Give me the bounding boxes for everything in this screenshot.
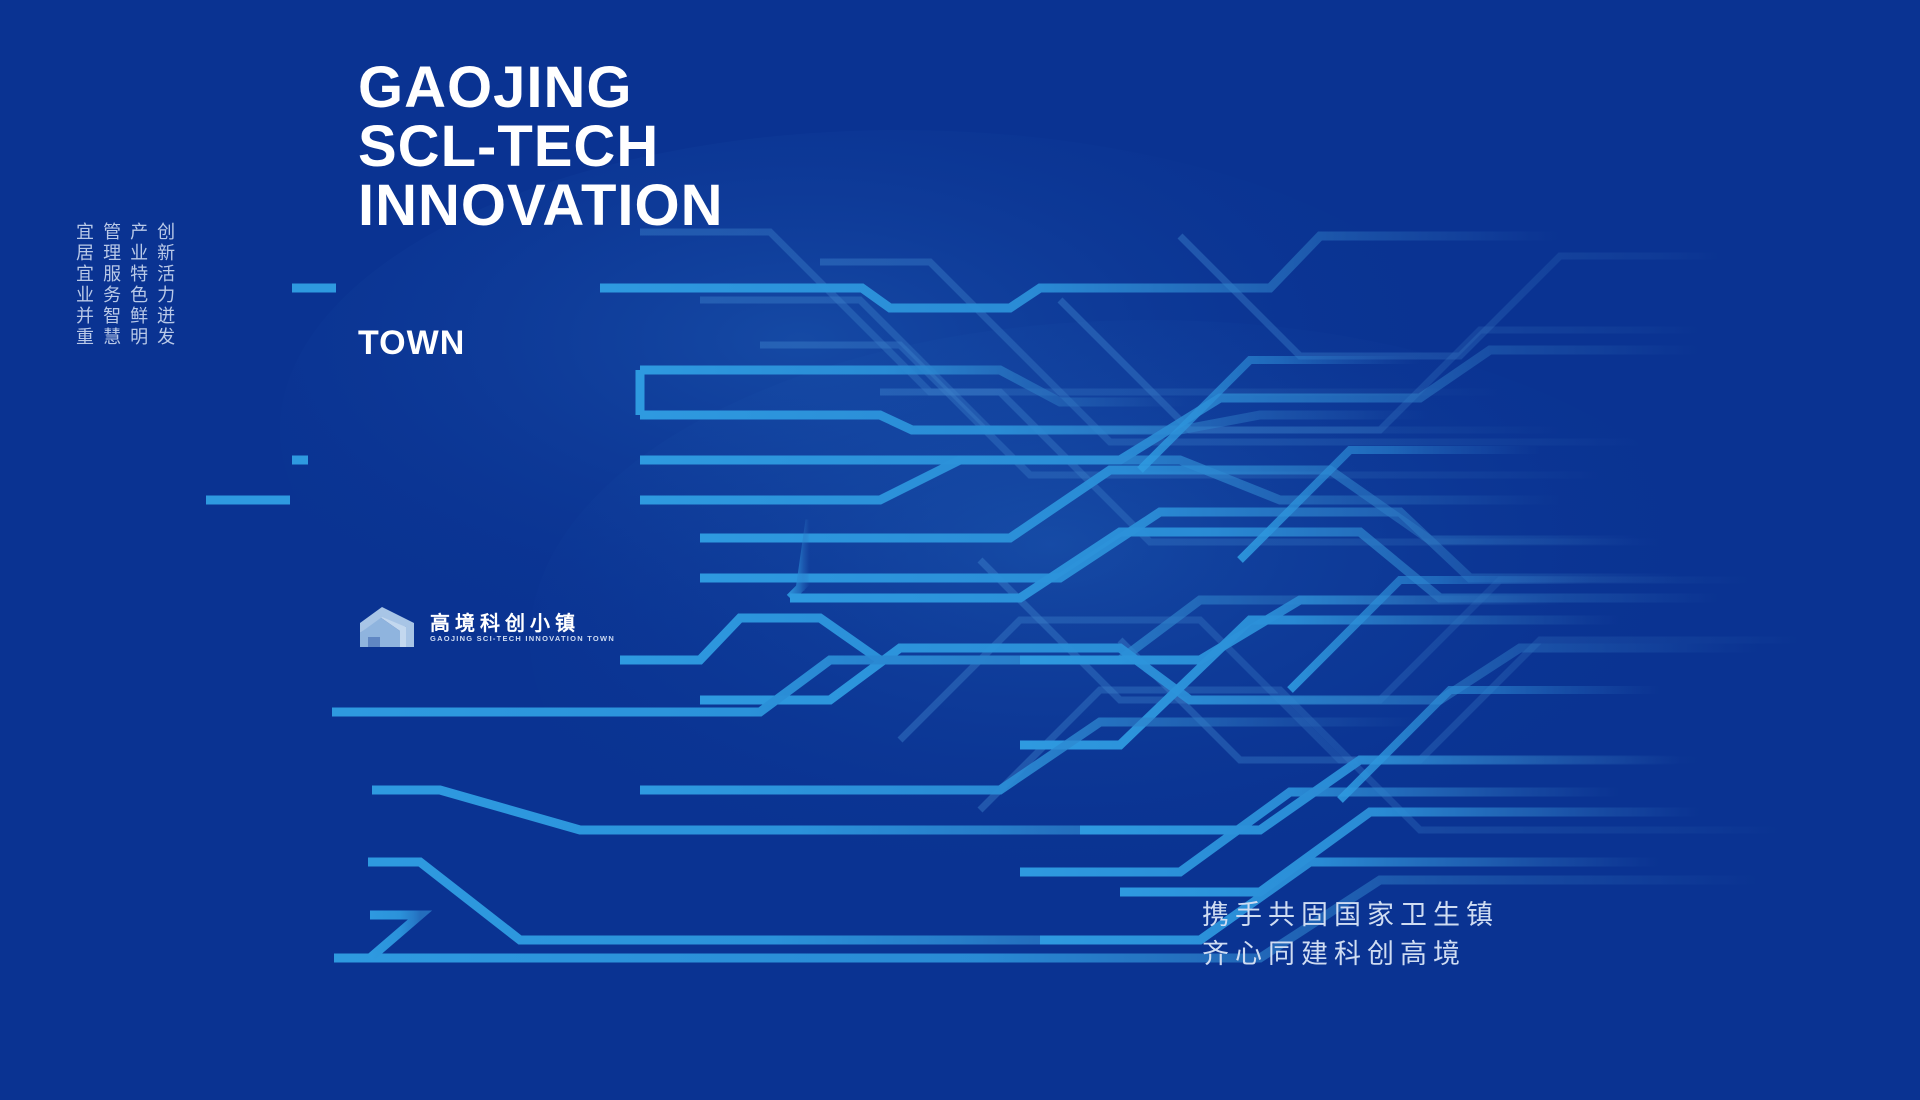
brand-name-en: GAOJING SCI-TECH INNOVATION TOWN xyxy=(430,635,615,643)
brand-logo: 高境科创小镇 GAOJING SCI-TECH INNOVATION TOWN xyxy=(358,607,615,649)
vertical-slogan-col-2: 产业特色鲜明 xyxy=(126,222,149,348)
circuit-trace-pattern xyxy=(0,0,1920,1100)
house-building-icon xyxy=(358,607,420,649)
campaign-slogan-line-1: 携手共固国家卫生镇 xyxy=(1202,896,1499,935)
vertical-slogan-block: 创新活力迸发 产业特色鲜明 管理服务智慧 宜居宜业并重 xyxy=(72,222,176,348)
vertical-slogan-col-3: 管理服务智慧 xyxy=(99,222,122,348)
campaign-slogan: 携手共固国家卫生镇 齐心同建科创高境 xyxy=(1202,896,1499,974)
poster-canvas: 创新活力迸发 产业特色鲜明 管理服务智慧 宜居宜业并重 GAOJING SCL-… xyxy=(0,0,1920,1100)
page-title: GAOJING SCL-TECH INNOVATION xyxy=(358,58,724,235)
campaign-slogan-line-2: 齐心同建科创高境 xyxy=(1202,935,1499,974)
brand-name-cn: 高境科创小镇 xyxy=(430,613,615,633)
vertical-slogan-col-4: 宜居宜业并重 xyxy=(72,222,95,348)
page-subtitle: TOWN xyxy=(358,324,465,363)
vertical-slogan-col-1: 创新活力迸发 xyxy=(153,222,176,348)
brand-logo-text: 高境科创小镇 GAOJING SCI-TECH INNOVATION TOWN xyxy=(430,613,615,643)
